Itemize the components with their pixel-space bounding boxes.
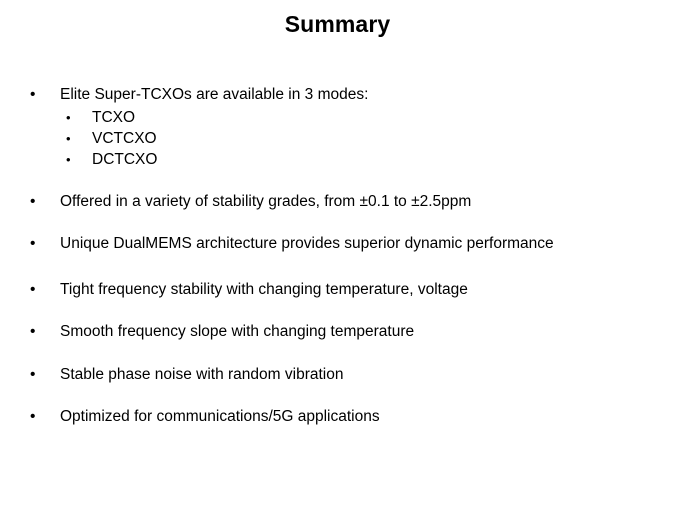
spacer xyxy=(0,212,675,233)
bullet-list: • Elite Super-TCXOs are available in 3 m… xyxy=(0,84,675,428)
bullet-icon: • xyxy=(30,191,40,213)
bullet-icon: • xyxy=(30,279,40,301)
list-item-label: Stable phase noise with random vibration xyxy=(60,364,630,386)
bullet-icon: • xyxy=(30,233,40,255)
slide-canvas: Summary • Elite Super-TCXOs are availabl… xyxy=(0,0,675,506)
bullet-icon: • xyxy=(30,406,40,428)
page-title: Summary xyxy=(0,11,675,37)
list-item-label: Offered in a variety of stability grades… xyxy=(60,191,630,213)
bullet-icon: • xyxy=(66,107,76,128)
bullet-icon: • xyxy=(30,84,40,106)
sub-list-item-label: DCTCXO xyxy=(92,149,675,170)
bullet-icon: • xyxy=(66,149,76,170)
bullet-icon: • xyxy=(30,364,40,386)
spacer xyxy=(0,343,675,364)
bullet-block: • Elite Super-TCXOs are available in 3 m… xyxy=(0,84,675,170)
sub-list-item: • VCTCXO xyxy=(0,128,675,149)
list-item-label: Optimized for communications/5G applicat… xyxy=(60,406,630,428)
spacer xyxy=(0,258,675,279)
list-item: • Tight frequency stability with changin… xyxy=(0,279,675,301)
list-item: • Unique DualMEMS architecture provides … xyxy=(0,233,675,255)
list-item-label: Unique DualMEMS architecture provides su… xyxy=(60,233,630,255)
spacer xyxy=(0,300,675,321)
list-item: • Offered in a variety of stability grad… xyxy=(0,191,675,213)
list-item: • Optimized for communications/5G applic… xyxy=(0,406,675,428)
list-item: • Elite Super-TCXOs are available in 3 m… xyxy=(0,84,675,106)
sub-list-item-label: VCTCXO xyxy=(92,128,675,149)
spacer xyxy=(0,385,675,406)
list-item-label: Elite Super-TCXOs are available in 3 mod… xyxy=(60,84,630,106)
list-item-label: Tight frequency stability with changing … xyxy=(60,279,630,301)
list-item-label: Smooth frequency slope with changing tem… xyxy=(60,321,630,343)
sub-bullet-list: • TCXO • VCTCXO • DCTCXO xyxy=(0,107,675,170)
spacer xyxy=(0,170,675,191)
bullet-icon: • xyxy=(30,321,40,343)
sub-list-item: • DCTCXO xyxy=(0,149,675,170)
list-item: • Smooth frequency slope with changing t… xyxy=(0,321,675,343)
bullet-icon: • xyxy=(66,128,76,149)
list-item: • Stable phase noise with random vibrati… xyxy=(0,364,675,386)
sub-list-item: • TCXO xyxy=(0,107,675,128)
sub-list-item-label: TCXO xyxy=(92,107,675,128)
